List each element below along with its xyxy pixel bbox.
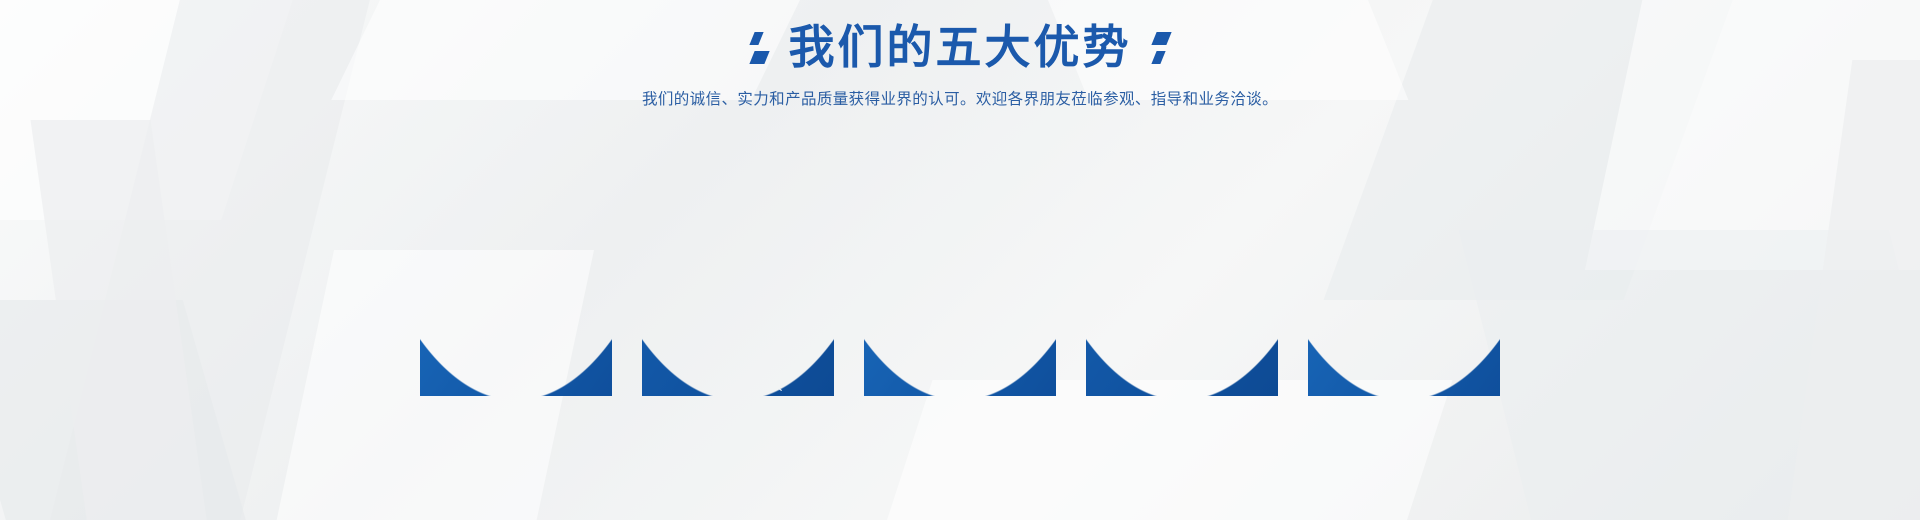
desc-line: 厂家直供	[1094, 324, 1270, 343]
advantage-card-3[interactable]: 专业团队 拥有完整、科学的质量 管理体系。	[864, 143, 1056, 396]
desc-line: 管理体系。	[872, 343, 1048, 362]
advantage-card-desc: 厂家直供 现货充足，师傅经验丰富	[1094, 324, 1270, 362]
desc-line: 拥有完整、科学的质量	[872, 324, 1048, 343]
advantage-card-title: 加工实力	[1136, 271, 1228, 296]
page-subtitle: 我们的诚信、实力和产品质量获得业界的认可。欢迎各界朋友莅临参观、指导和业务洽谈。	[0, 87, 1920, 109]
advantage-card-desc: 收到您的订单我们会 在短时间内快速发货 值得您选择	[428, 324, 604, 381]
bg-shape	[868, 380, 1453, 520]
hands-lightbulb-icon	[1308, 185, 1500, 255]
advantage-card-title: 快速发货	[470, 271, 562, 296]
desc-line: 24小时全天候服务体系	[1316, 343, 1492, 362]
card-divider	[886, 309, 1034, 312]
rocket-icon	[420, 185, 612, 255]
desc-line: 专业的技术工人	[650, 377, 826, 396]
team-people-icon	[864, 185, 1056, 255]
advantage-card-2[interactable]: 保质保量 公司拥有 先进的设备 专业的生产团队 专业的技术工人	[642, 143, 834, 396]
page-title: 我们的五大优势	[789, 20, 1132, 75]
advantage-card-title: 保质保量	[692, 267, 784, 292]
desc-line: 一站式采购服务	[1316, 324, 1492, 343]
advantage-card-5[interactable]: 快速便捷 一站式采购服务 24小时全天候服务体系	[1308, 143, 1500, 396]
advantage-card-title: 专业团队	[914, 271, 1006, 296]
desc-line: 在短时间内快速发货	[428, 343, 604, 362]
advantage-card-desc: 公司拥有 先进的设备 专业的生产团队 专业的技术工人	[650, 320, 826, 396]
card-divider	[1108, 309, 1256, 312]
wrench-screwdriver-icon	[642, 185, 834, 251]
advantage-card-desc: 一站式采购服务 24小时全天候服务体系	[1316, 324, 1492, 362]
advantage-card-list: 快速发货 收到您的订单我们会 在短时间内快速发货 值得您选择 保质保量	[0, 143, 1920, 396]
title-row: 我们的五大优势	[0, 0, 1920, 75]
desc-line: 值得您选择	[428, 362, 604, 381]
desc-line: 专业的生产团队	[650, 358, 826, 377]
advantage-card-1[interactable]: 快速发货 收到您的订单我们会 在短时间内快速发货 值得您选择	[420, 143, 612, 396]
advantages-banner: 我们的五大优势 我们的诚信、实力和产品质量获得业界的认可。欢迎各界朋友莅临参观、…	[0, 0, 1920, 520]
advantage-card-title: 快速便捷	[1358, 271, 1450, 296]
parallelogram-accent-icon	[752, 32, 767, 64]
card-divider	[664, 305, 812, 308]
card-divider	[442, 309, 590, 312]
desc-line: 收到您的订单我们会	[428, 324, 604, 343]
card-divider	[1330, 309, 1478, 312]
parallelogram-accent-icon	[1154, 32, 1169, 64]
advantage-card-4[interactable]: 加工实力 厂家直供 现货充足，师傅经验丰富	[1086, 143, 1278, 396]
desc-line: 现货充足，师傅经验丰富	[1094, 343, 1270, 362]
advantage-card-desc: 拥有完整、科学的质量 管理体系。	[872, 324, 1048, 362]
desc-line: 先进的设备	[650, 339, 826, 358]
banner-header: 我们的五大优势 我们的诚信、实力和产品质量获得业界的认可。欢迎各界朋友莅临参观、…	[0, 0, 1920, 109]
desc-line: 公司拥有	[650, 320, 826, 339]
fist-icon	[1086, 185, 1278, 255]
